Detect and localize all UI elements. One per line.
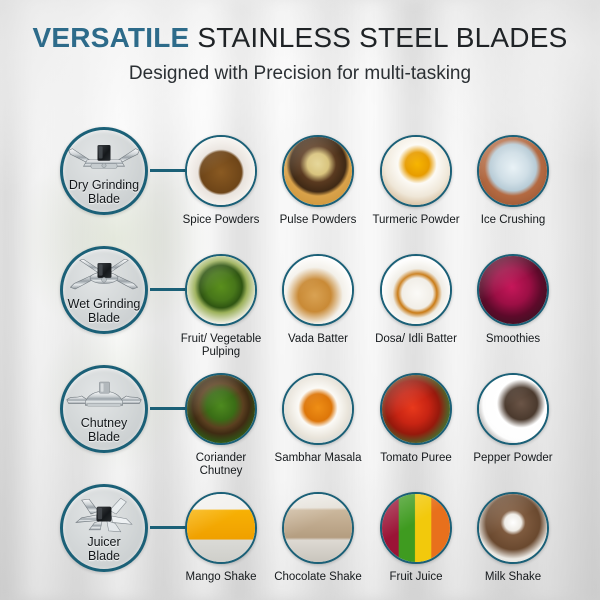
blade-label-line1: Wet Grinding	[63, 297, 145, 311]
blade-node-chutney-blade[interactable]: ChutneyBlade	[60, 365, 148, 453]
food-node-dosa-idli-batter[interactable]: Dosa/ Idli Batter	[380, 254, 452, 346]
header: VERSATILE STAINLESS STEEL BLADES Designe…	[0, 22, 600, 85]
spice-powder-bowl-image	[185, 135, 257, 207]
food-label-line1: Ice Crushing	[461, 214, 565, 227]
food-node-coriander-chutney[interactable]: CorianderChutney	[185, 373, 257, 478]
food-label: Fruit/ VegetablePulping	[169, 333, 273, 359]
food-label-line1: Sambhar Masala	[266, 452, 370, 465]
connector-line	[150, 288, 186, 291]
food-label-line1: Tomato Puree	[364, 452, 468, 465]
food-label-line1: Pulse Powders	[266, 214, 370, 227]
food-node-fruit-juice[interactable]: Fruit Juice	[380, 492, 452, 584]
green-pulp-bowl-image	[185, 254, 257, 326]
food-label: Chocolate Shake	[266, 571, 370, 584]
blade-row: Dry GrindingBladeSpice PowdersPulse Powd…	[0, 119, 600, 238]
food-label: Turmeric Powder	[364, 214, 468, 227]
blade-label-line2: Blade	[63, 430, 145, 444]
food-label: Vada Batter	[266, 333, 370, 346]
blade-label-line2: Blade	[63, 549, 145, 563]
food-node-ice-crushing[interactable]: Ice Crushing	[477, 135, 549, 227]
blade-label-line1: Chutney	[63, 416, 145, 430]
blade-node-dry-grinding-blade[interactable]: Dry GrindingBlade	[60, 127, 148, 215]
food-label: Fruit Juice	[364, 571, 468, 584]
food-label: Mango Shake	[169, 571, 273, 584]
food-label-line1: Spice Powders	[169, 214, 273, 227]
blade-label: JuicerBlade	[63, 535, 145, 563]
coriander-chutney-bowl-image	[185, 373, 257, 445]
food-label: Tomato Puree	[364, 452, 468, 465]
idli-plate-image	[380, 254, 452, 326]
sambhar-masala-bowl-image	[282, 373, 354, 445]
food-node-sambhar-masala[interactable]: Sambhar Masala	[282, 373, 354, 465]
pepper-powder-scoop-image	[477, 373, 549, 445]
tomato-puree-jar-image	[380, 373, 452, 445]
blade-node-juicer-blade[interactable]: JuicerBlade	[60, 484, 148, 572]
food-label-line1: Chocolate Shake	[266, 571, 370, 584]
chocolate-shake-glasses-image	[282, 492, 354, 564]
food-node-mango-shake[interactable]: Mango Shake	[185, 492, 257, 584]
food-label-line1: Milk Shake	[461, 571, 565, 584]
blade-label: Wet GrindingBlade	[63, 297, 145, 325]
food-label-line1: Pepper Powder	[461, 452, 565, 465]
food-node-chocolate-shake[interactable]: Chocolate Shake	[282, 492, 354, 584]
food-label-line1: Smoothies	[461, 333, 565, 346]
food-node-smoothies[interactable]: Smoothies	[477, 254, 549, 346]
food-node-pepper-powder[interactable]: Pepper Powder	[477, 373, 549, 465]
food-label: Pepper Powder	[461, 452, 565, 465]
food-label: Pulse Powders	[266, 214, 370, 227]
blade-label-line2: Blade	[63, 192, 145, 206]
blade-row: ChutneyBladeCorianderChutneySambhar Masa…	[0, 357, 600, 476]
milkshake-glass-image	[477, 492, 549, 564]
page-title: VERSATILE STAINLESS STEEL BLADES	[0, 22, 600, 54]
food-label: Milk Shake	[461, 571, 565, 584]
blade-row: JuicerBladeMango ShakeChocolate ShakeFru…	[0, 476, 600, 595]
crushed-ice-bowl-image	[477, 135, 549, 207]
food-label-line1: Vada Batter	[266, 333, 370, 346]
blade-row: Wet GrindingBladeFruit/ VegetablePulping…	[0, 238, 600, 357]
chutney-blade-icon	[63, 374, 145, 418]
food-node-turmeric-powder[interactable]: Turmeric Powder	[380, 135, 452, 227]
blade-label: ChutneyBlade	[63, 416, 145, 444]
connector-line	[150, 526, 186, 529]
blade-label: Dry GrindingBlade	[63, 178, 145, 206]
title-rest: STAINLESS STEEL BLADES	[189, 22, 567, 53]
food-label: Ice Crushing	[461, 214, 565, 227]
food-node-milk-shake[interactable]: Milk Shake	[477, 492, 549, 584]
pulse-powder-bowl-image	[282, 135, 354, 207]
connector-line	[150, 407, 186, 410]
food-label-line1: Mango Shake	[169, 571, 273, 584]
food-label-line1: Coriander	[169, 452, 273, 465]
food-label-line1: Turmeric Powder	[364, 214, 468, 227]
blade-usage-grid: Dry GrindingBladeSpice PowdersPulse Powd…	[0, 0, 600, 600]
food-label: CorianderChutney	[169, 452, 273, 478]
blade-label-line1: Dry Grinding	[63, 178, 145, 192]
food-node-spice-powders[interactable]: Spice Powders	[185, 135, 257, 227]
vada-plate-image	[282, 254, 354, 326]
food-node-fruit-vegetable-pulping[interactable]: Fruit/ VegetablePulping	[185, 254, 257, 359]
page-subtitle: Designed with Precision for multi-taskin…	[0, 63, 600, 85]
food-label-line1: Dosa/ Idli Batter	[364, 333, 468, 346]
dry-grinding-blade-icon	[63, 136, 145, 180]
blade-label-line1: Juicer	[63, 535, 145, 549]
berry-smoothie-jar-image	[477, 254, 549, 326]
food-node-vada-batter[interactable]: Vada Batter	[282, 254, 354, 346]
food-label: Dosa/ Idli Batter	[364, 333, 468, 346]
juicer-blade-icon	[63, 493, 145, 537]
food-label-line1: Fruit/ Vegetable	[169, 333, 273, 346]
food-node-tomato-puree[interactable]: Tomato Puree	[380, 373, 452, 465]
food-node-pulse-powders[interactable]: Pulse Powders	[282, 135, 354, 227]
turmeric-powder-bowl-image	[380, 135, 452, 207]
mango-shake-glasses-image	[185, 492, 257, 564]
blade-label-line2: Blade	[63, 311, 145, 325]
food-label-line1: Fruit Juice	[364, 571, 468, 584]
fruit-juice-glasses-image	[380, 492, 452, 564]
wet-grinding-blade-icon	[63, 255, 145, 299]
food-label: Smoothies	[461, 333, 565, 346]
food-label: Spice Powders	[169, 214, 273, 227]
blade-node-wet-grinding-blade[interactable]: Wet GrindingBlade	[60, 246, 148, 334]
connector-line	[150, 169, 186, 172]
title-accent-word: VERSATILE	[33, 22, 190, 53]
food-label: Sambhar Masala	[266, 452, 370, 465]
